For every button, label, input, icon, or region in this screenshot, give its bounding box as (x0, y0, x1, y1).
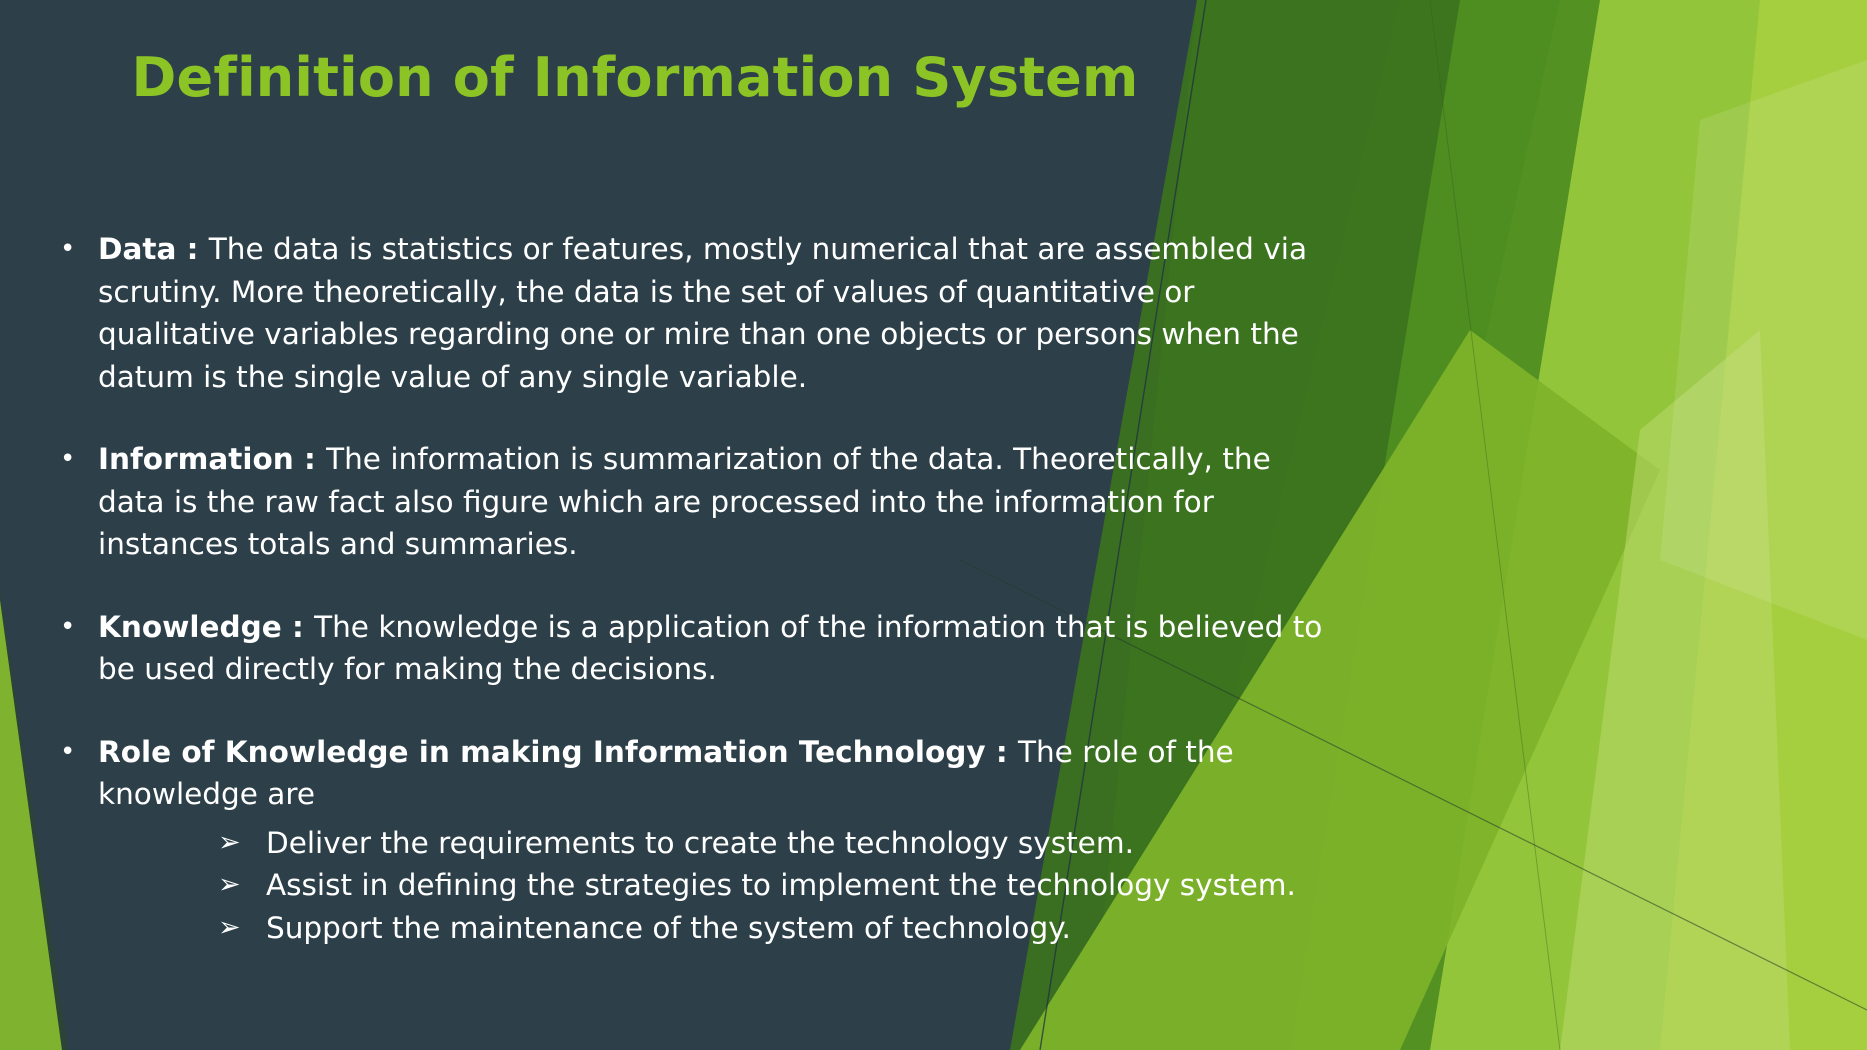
arrow-bullet-icon: ➢ (218, 907, 266, 950)
bullet-text-information: Information : The information is summari… (98, 438, 1342, 566)
bullet-item-role-of-knowledge: • Role of Knowledge in making Informatio… (52, 731, 1342, 950)
bullet-item-knowledge: • Knowledge : The knowledge is a applica… (52, 606, 1342, 691)
bullet-lead-data: Data : (98, 232, 209, 266)
sub-bullet-label-deliver: Deliver the requirements to create the t… (266, 822, 1342, 865)
bullet-body-data: The data is statistics or features, most… (98, 232, 1307, 394)
sub-bullet-label-assist: Assist in defining the strategies to imp… (266, 864, 1342, 907)
bullet-item-information: • Information : The information is summa… (52, 438, 1342, 566)
slide-content: Definition of Information System • Data … (0, 0, 1867, 1050)
slide-body-bullet-list: • Data : The data is statistics or featu… (52, 228, 1342, 949)
sub-bullet-label-support: Support the maintenance of the system of… (266, 907, 1342, 950)
bullet-text-knowledge: Knowledge : The knowledge is a applicati… (98, 606, 1342, 691)
sub-bullet-item-support: ➢ Support the maintenance of the system … (218, 907, 1342, 950)
bullet-marker-icon: • (52, 731, 98, 773)
bullet-marker-icon: • (52, 228, 98, 270)
bullet-marker-icon: • (52, 606, 98, 648)
bullet-text-data: Data : The data is statistics or feature… (98, 228, 1342, 398)
sub-bullet-item-deliver: ➢ Deliver the requirements to create the… (218, 822, 1342, 865)
sub-bullet-list: ➢ Deliver the requirements to create the… (218, 822, 1342, 950)
presentation-slide: Definition of Information System • Data … (0, 0, 1867, 1050)
bullet-lead-role-of-knowledge: Role of Knowledge in making Information … (98, 735, 1018, 769)
arrow-bullet-icon: ➢ (218, 822, 266, 865)
bullet-lead-information: Information : (98, 442, 326, 476)
bullet-lead-knowledge: Knowledge : (98, 610, 314, 644)
bullet-item-data: • Data : The data is statistics or featu… (52, 228, 1342, 398)
sub-bullet-item-assist: ➢ Assist in defining the strategies to i… (218, 864, 1342, 907)
bullet-text-role-of-knowledge: Role of Knowledge in making Information … (98, 731, 1342, 950)
slide-title: Definition of Information System (0, 48, 1270, 107)
bullet-marker-icon: • (52, 438, 98, 480)
arrow-bullet-icon: ➢ (218, 864, 266, 907)
